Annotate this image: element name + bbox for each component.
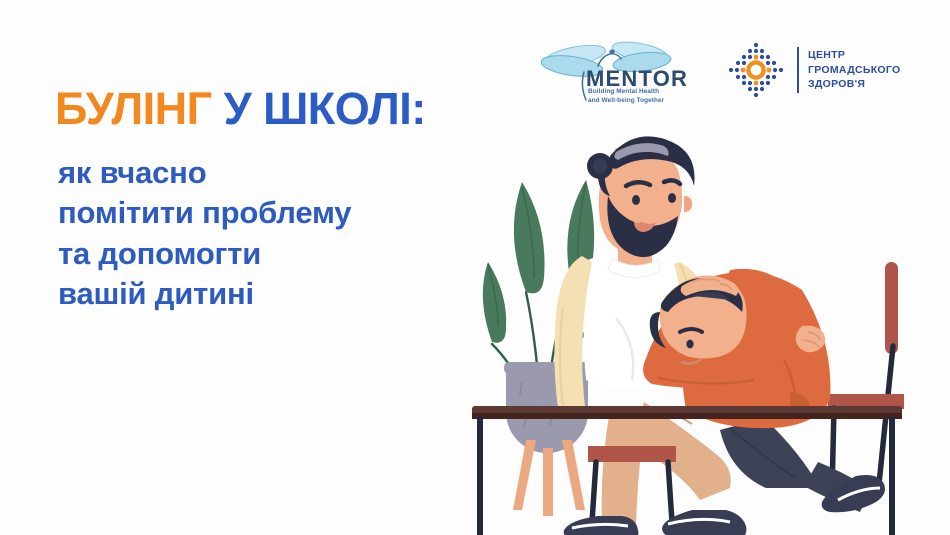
public-health-center-text: ЦЕНТР ГРОМАДСЬКОГО ЗДОРОВ'Я xyxy=(808,48,900,91)
page-title: БУЛІНГ У ШКОЛІ: xyxy=(55,86,426,131)
public-health-center-logo: ЦЕНТР ГРОМАДСЬКОГО ЗДОРОВ'Я xyxy=(724,34,900,106)
logo-divider xyxy=(797,47,799,93)
bullying-awareness-banner: MENTOR Building Mental Health and Well-b… xyxy=(0,0,950,535)
page-subtitle: як вчасно помітити проблему та допомогти… xyxy=(58,153,426,314)
title-highlight: БУЛІНГ xyxy=(55,83,224,134)
logo-row: MENTOR Building Mental Health and Well-b… xyxy=(528,28,918,112)
dot-diamond-icon xyxy=(724,38,788,102)
mentor-wordmark: MENTOR xyxy=(586,68,688,90)
illustration-father-and-child xyxy=(430,110,950,535)
headline-block: БУЛІНГ У ШКОЛІ: як вчасно помітити пробл… xyxy=(55,86,426,314)
mentor-logo: MENTOR Building Mental Health and Well-b… xyxy=(528,28,698,112)
title-rest: У ШКОЛІ: xyxy=(224,83,426,134)
mentor-tagline: Building Mental Health and Well-being To… xyxy=(588,88,664,105)
sad-child xyxy=(643,269,870,512)
